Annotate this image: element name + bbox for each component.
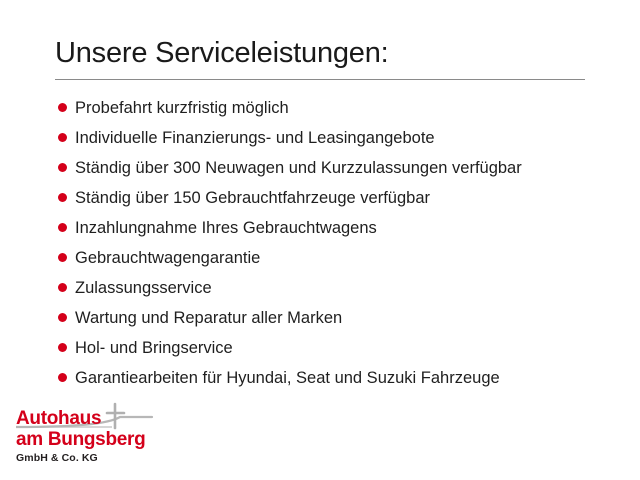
list-item-label: Ständig über 150 Gebrauchtfahrzeuge verf… [75,183,430,213]
bullet-dot-icon [58,253,67,262]
bullet-dot-icon [58,103,67,112]
list-item: Probefahrt kurzfristig möglich [58,93,618,123]
bullet-dot-icon [58,283,67,292]
logo-line-2: am Bungsberg [16,429,145,451]
bullet-dot-icon [58,163,67,172]
list-item-label: Ständig über 300 Neuwagen und Kurzzulass… [75,153,522,183]
logo-legal-form: GmbH & Co. KG [16,452,98,464]
list-item: Ständig über 300 Neuwagen und Kurzzulass… [58,153,618,183]
page-title: Unsere Serviceleistungen: [55,38,585,70]
title-block: Unsere Serviceleistungen: [55,38,585,80]
list-item-label: Zulassungsservice [75,273,212,303]
list-item-label: Probefahrt kurzfristig möglich [75,93,289,123]
list-item: Inzahlungnahme Ihres Gebrauchtwagens [58,213,618,243]
bullet-dot-icon [58,373,67,382]
bullet-dot-icon [58,313,67,322]
list-item-label: Gebrauchtwagengarantie [75,243,260,273]
list-item: Garantiearbeiten für Hyundai, Seat und S… [58,363,618,393]
list-item: Ständig über 150 Gebrauchtfahrzeuge verf… [58,183,618,213]
list-item-label: Inzahlungnahme Ihres Gebrauchtwagens [75,213,377,243]
list-item: Wartung und Reparatur aller Marken [58,303,618,333]
company-logo: Autohaus am Bungsberg GmbH & Co. KG [16,402,176,468]
list-item: Hol- und Bringservice [58,333,618,363]
list-item-label: Individuelle Finanzierungs- und Leasinga… [75,123,435,153]
title-divider [55,79,585,80]
list-item-label: Hol- und Bringservice [75,333,233,363]
slide-canvas: Unsere Serviceleistungen: Probefahrt kur… [0,0,640,480]
list-item: Zulassungsservice [58,273,618,303]
services-list: Probefahrt kurzfristig möglich Individue… [58,93,618,393]
list-item-label: Wartung und Reparatur aller Marken [75,303,342,333]
bullet-dot-icon [58,193,67,202]
list-item: Individuelle Finanzierungs- und Leasinga… [58,123,618,153]
logo-line-1: Autohaus [16,408,101,430]
bullet-dot-icon [58,133,67,142]
list-item: Gebrauchtwagengarantie [58,243,618,273]
bullet-dot-icon [58,343,67,352]
list-item-label: Garantiearbeiten für Hyundai, Seat und S… [75,363,500,393]
bullet-dot-icon [58,223,67,232]
